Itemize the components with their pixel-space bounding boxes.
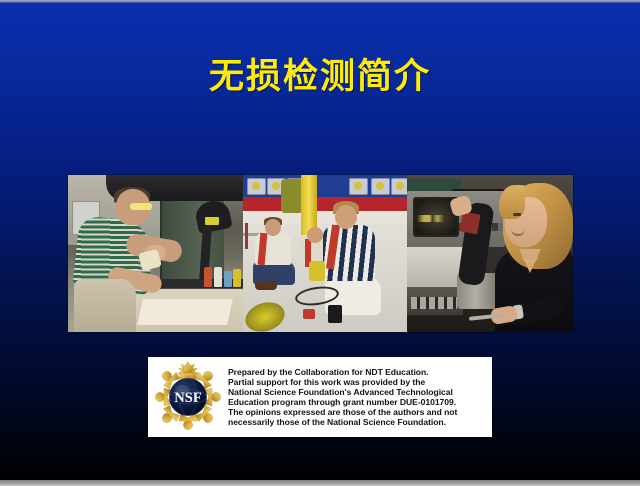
waveform-trace	[417, 215, 451, 222]
technician-pants	[74, 279, 136, 332]
operator-hair-front	[499, 185, 525, 219]
cleaning-rag	[138, 249, 162, 271]
wall-plaque	[391, 178, 407, 195]
credit-box: NSF Prepared by the Collaboration for ND…	[148, 357, 492, 437]
credit-line-1: Prepared by the Collaboration for NDT Ed…	[228, 367, 489, 377]
presentation-slide: 无损检测简介	[0, 0, 640, 486]
slide-bottom-border	[0, 480, 640, 486]
wall-plaque	[247, 178, 266, 195]
bench-shelf	[407, 247, 463, 287]
chemical-bottle	[233, 269, 241, 287]
inspector-a-shoe	[255, 281, 277, 290]
wall-plaque	[371, 178, 390, 195]
bench-paper	[137, 299, 233, 325]
credit-line-6: necessarily those of the National Scienc…	[228, 417, 489, 427]
credit-line-4: Education program through grant number D…	[228, 397, 489, 407]
yellow-stanchion	[301, 175, 317, 235]
hoist-hook	[245, 223, 248, 249]
credit-line-2: Partial support for this work was provid…	[228, 377, 489, 387]
page-title: 无损检测简介	[0, 56, 640, 98]
chemical-bottle	[224, 271, 232, 287]
operator-eye	[513, 213, 521, 216]
red-case	[303, 309, 315, 319]
inspector-b-head	[335, 205, 357, 229]
chemical-bottle	[204, 267, 212, 287]
operator-sleeve-accent	[459, 212, 480, 235]
connector-ports	[411, 297, 457, 309]
wall-plaque	[349, 178, 368, 195]
test-instrument	[309, 261, 325, 281]
nsf-logo-text: NSF	[174, 390, 202, 406]
slide-top-border	[0, 0, 640, 3]
credit-line-5: The opinions expressed are those of the …	[228, 407, 489, 417]
safety-glasses	[130, 203, 152, 210]
liquid-penetrant-inspection-photo	[68, 175, 243, 332]
nsf-logo: NSF	[150, 359, 226, 435]
aircraft-wing-inspection-photo	[243, 175, 407, 332]
lamp-label	[205, 217, 219, 225]
equipment-bag	[281, 179, 303, 213]
credit-line-3: National Science Foundation's Advanced T…	[228, 387, 489, 397]
photo-strip	[68, 175, 573, 332]
ultrasonic-testing-photo	[407, 175, 573, 332]
black-case	[328, 305, 342, 323]
hangar-wall-red-stripe	[243, 197, 407, 211]
inspector-a-head	[265, 219, 281, 236]
credit-text: Prepared by the Collaboration for NDT Ed…	[226, 367, 492, 428]
nsf-logo-svg: NSF	[150, 359, 226, 435]
chemical-bottle	[214, 267, 222, 287]
inspector-c-head	[307, 227, 323, 243]
